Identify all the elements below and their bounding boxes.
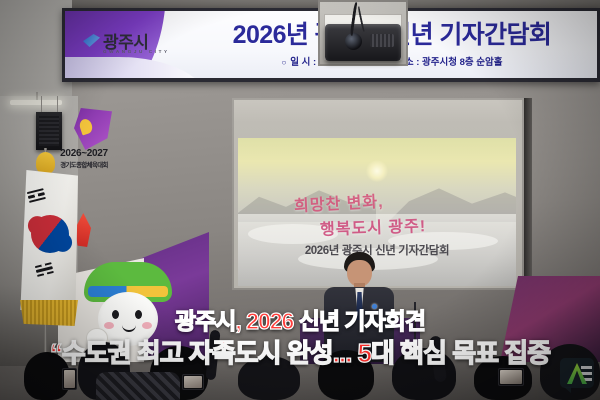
logo-swoosh-icon [83, 34, 100, 47]
audience-phone-screen [64, 370, 75, 388]
speaker-grill [39, 116, 59, 146]
audience-phone-screen [184, 376, 202, 388]
screenshot-frame: 광주시 GWANGJU CITY 2026년 광주시 신년 기자간담회 일 시 … [0, 0, 600, 400]
slide-slogan-line2: 행복도시 광주! [320, 212, 427, 240]
projector-lens [345, 33, 362, 50]
logo-english-text: GWANGJU CITY [103, 49, 170, 54]
speaker-wire-right [57, 96, 58, 113]
caption-line-2: “수도권 최고 자족도시 완성... 5대 핵심 목표 집중 [0, 333, 600, 370]
caption-line-1: 광주시, 2026 신년 기자회견 [0, 302, 600, 336]
flag-pole-finial [36, 152, 55, 174]
projector-vent [370, 34, 394, 47]
slide-slogan-line1: 희망찬 변화, [293, 188, 384, 217]
wall-graphic-year: 2026~2027 [50, 148, 118, 159]
speaker-wire-left [41, 96, 42, 113]
broadcaster-watermark [560, 358, 594, 392]
audience-phone-screen [500, 370, 522, 384]
ceiling-light [10, 100, 62, 105]
audience-plaid-shirt [96, 372, 180, 400]
gwangju-city-logo: 광주시 GWANGJU CITY [83, 31, 175, 73]
wall-graphic-event-name: 경기도종합체육대회 [50, 160, 118, 169]
slide-sunrise [366, 160, 388, 182]
right-wall-edge [524, 98, 532, 278]
